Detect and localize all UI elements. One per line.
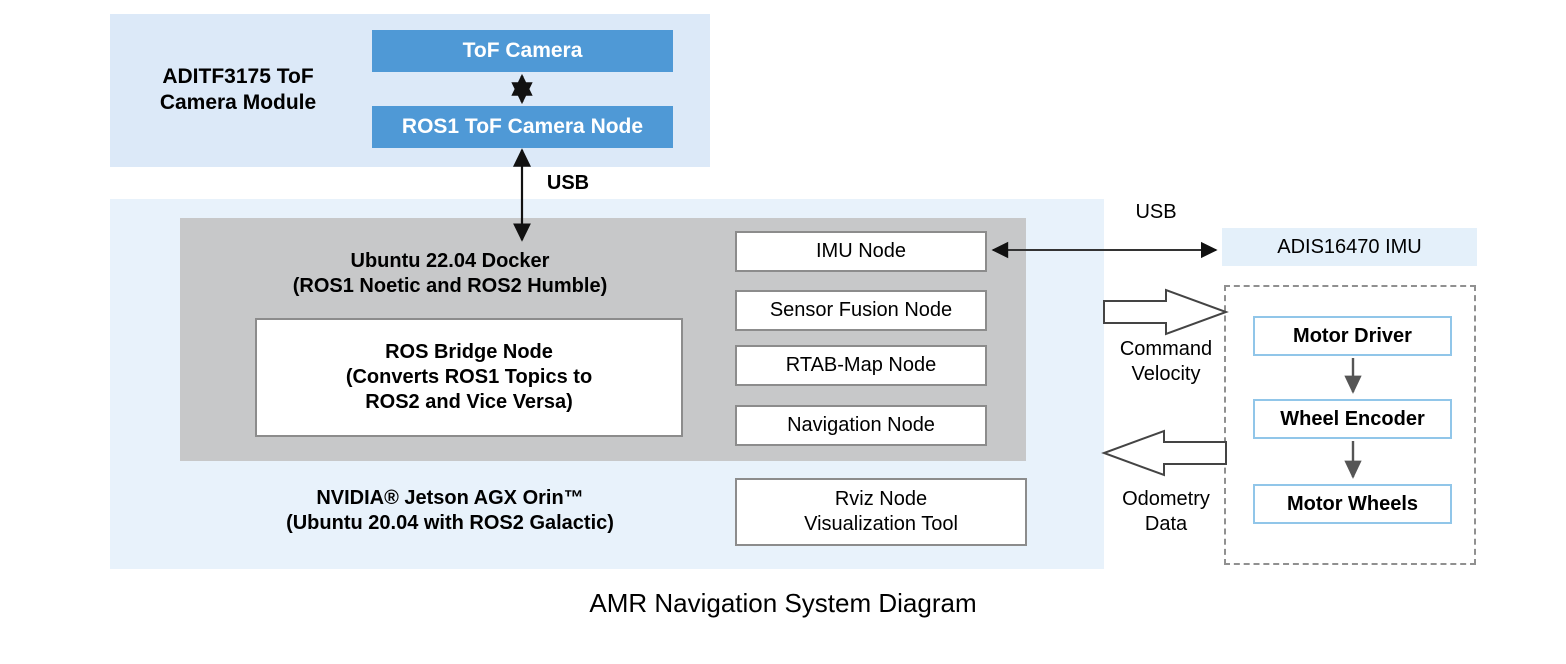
tof-module-label: ADITF3175 ToF Camera Module xyxy=(118,52,358,128)
rtab-map-node-box[interactable]: RTAB-Map Node xyxy=(735,345,987,386)
diagram-canvas: ADITF3175 ToF Camera Module ToF Camera R… xyxy=(0,0,1566,664)
command-velocity-label: Command Velocity xyxy=(1100,337,1232,387)
imu-node-box[interactable]: IMU Node xyxy=(735,231,987,272)
adis16470-imu-box[interactable]: ADIS16470 IMU xyxy=(1222,228,1477,266)
wheel-encoder-box[interactable]: Wheel Encoder xyxy=(1253,399,1452,439)
ros-bridge-node-box[interactable]: ROS Bridge Node (Converts ROS1 Topics to… xyxy=(255,318,683,437)
odometry-data-label: Odometry Data xyxy=(1100,487,1232,537)
navigation-node-box[interactable]: Navigation Node xyxy=(735,405,987,446)
diagram-caption: AMR Navigation System Diagram xyxy=(0,588,1566,619)
usb-imu-label: USB xyxy=(1116,200,1196,225)
jetson-platform-label: NVIDIA® Jetson AGX Orin™ (Ubuntu 20.04 w… xyxy=(190,480,710,542)
odometry-data-block-arrow xyxy=(1104,431,1226,475)
usb-camera-label: USB xyxy=(528,171,608,196)
tof-camera-box[interactable]: ToF Camera xyxy=(372,30,673,72)
motor-driver-box[interactable]: Motor Driver xyxy=(1253,316,1452,356)
ros1-tof-camera-node-box[interactable]: ROS1 ToF Camera Node xyxy=(372,106,673,148)
sensor-fusion-node-box[interactable]: Sensor Fusion Node xyxy=(735,290,987,331)
rviz-node-box[interactable]: Rviz Node Visualization Tool xyxy=(735,478,1027,546)
motor-wheels-box[interactable]: Motor Wheels xyxy=(1253,484,1452,524)
command-velocity-block-arrow xyxy=(1104,290,1226,334)
docker-label: Ubuntu 22.04 Docker (ROS1 Noetic and ROS… xyxy=(190,243,710,305)
